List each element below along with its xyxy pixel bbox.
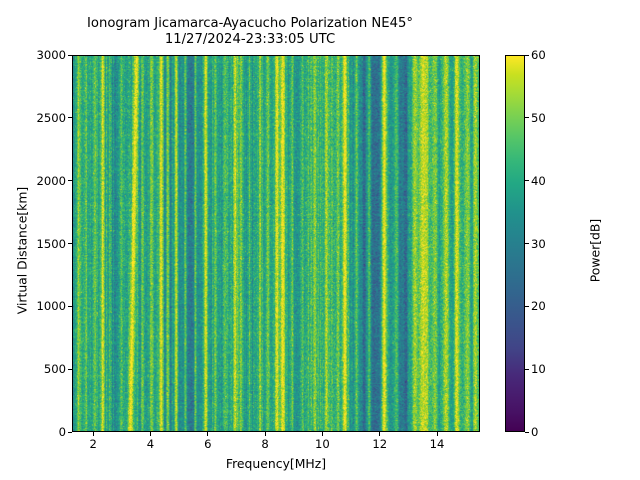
colorbar-tick-label: 60 — [531, 49, 546, 61]
title-subtitle: 11/27/2024-23:33:05 UTC — [0, 32, 500, 48]
x-tick-label: 2 — [89, 438, 96, 450]
y-tick-label: 1000 — [26, 300, 66, 312]
colorbar-tick-mark — [525, 306, 529, 307]
x-tick-label: 10 — [315, 438, 330, 450]
y-tick-mark — [68, 55, 72, 56]
colorbar-tick-label: 0 — [531, 426, 538, 438]
x-tick-label: 6 — [204, 438, 211, 450]
y-tick-label: 3000 — [26, 49, 66, 61]
x-tick-label: 8 — [261, 438, 268, 450]
y-tick-label: 0 — [26, 426, 66, 438]
x-tick-label: 4 — [147, 438, 154, 450]
colorbar-tick-mark — [525, 180, 529, 181]
ionogram-plot-area — [72, 55, 480, 432]
y-tick-mark — [68, 369, 72, 370]
ionogram-heatmap — [73, 56, 479, 431]
x-tick-mark — [93, 432, 94, 436]
x-tick-label: 12 — [372, 438, 387, 450]
y-tick-label: 2000 — [26, 175, 66, 187]
colorbar — [505, 55, 525, 432]
y-tick-mark — [68, 180, 72, 181]
y-tick-label: 500 — [26, 363, 66, 375]
y-tick-mark — [68, 117, 72, 118]
x-tick-mark — [207, 432, 208, 436]
colorbar-tick-label: 30 — [531, 238, 546, 250]
x-tick-mark — [322, 432, 323, 436]
colorbar-tick-mark — [525, 432, 529, 433]
x-tick-label: 14 — [430, 438, 445, 450]
colorbar-tick-mark — [525, 243, 529, 244]
colorbar-label: Power[dB] — [588, 151, 603, 351]
y-tick-label: 1500 — [26, 238, 66, 250]
x-axis-label: Frequency[MHz] — [72, 456, 480, 471]
colorbar-tick-mark — [525, 55, 529, 56]
y-tick-mark — [68, 306, 72, 307]
colorbar-tick-mark — [525, 117, 529, 118]
x-tick-mark — [265, 432, 266, 436]
figure-title: Ionogram Jicamarca-Ayacucho Polarization… — [0, 16, 500, 48]
y-tick-label: 2500 — [26, 112, 66, 124]
colorbar-tick-mark — [525, 369, 529, 370]
colorbar-tick-label: 50 — [531, 112, 546, 124]
colorbar-tick-label: 40 — [531, 175, 546, 187]
x-tick-mark — [437, 432, 438, 436]
colorbar-tick-label: 10 — [531, 363, 546, 375]
x-tick-mark — [150, 432, 151, 436]
y-tick-mark — [68, 432, 72, 433]
ionogram-figure: Ionogram Jicamarca-Ayacucho Polarization… — [0, 0, 640, 480]
colorbar-tick-label: 20 — [531, 300, 546, 312]
x-tick-mark — [379, 432, 380, 436]
title-line-1: Ionogram Jicamarca-Ayacucho Polarization… — [0, 16, 500, 32]
y-tick-mark — [68, 243, 72, 244]
